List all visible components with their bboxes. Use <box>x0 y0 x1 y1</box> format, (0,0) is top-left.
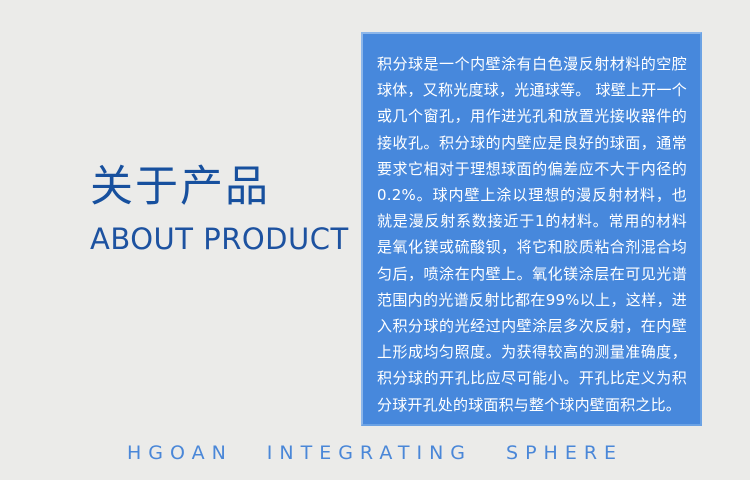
page-title-en: ABOUT PRODUCT <box>90 220 340 258</box>
product-description-panel: 积分球是一个内壁涂有白色漫反射材料的空腔球体，又称光度球，光通球等。 球壁上开一… <box>361 32 702 426</box>
footer-keyword-strip: HGOAN INTEGRATING SPHERE <box>0 437 750 469</box>
footer-word-brand: HGOAN <box>127 441 233 465</box>
page-title-cn: 关于产品 <box>90 160 340 214</box>
product-description-text: 积分球是一个内壁涂有白色漫反射材料的空腔球体，又称光度球，光通球等。 球壁上开一… <box>377 51 687 418</box>
product-intro-banner: 关于产品 ABOUT PRODUCT 积分球是一个内壁涂有白色漫反射材料的空腔球… <box>0 0 750 480</box>
footer-word-sphere: SPHERE <box>506 441 623 465</box>
footer-word-integrating: INTEGRATING <box>267 441 472 465</box>
heading-block: 关于产品 ABOUT PRODUCT <box>90 160 340 258</box>
